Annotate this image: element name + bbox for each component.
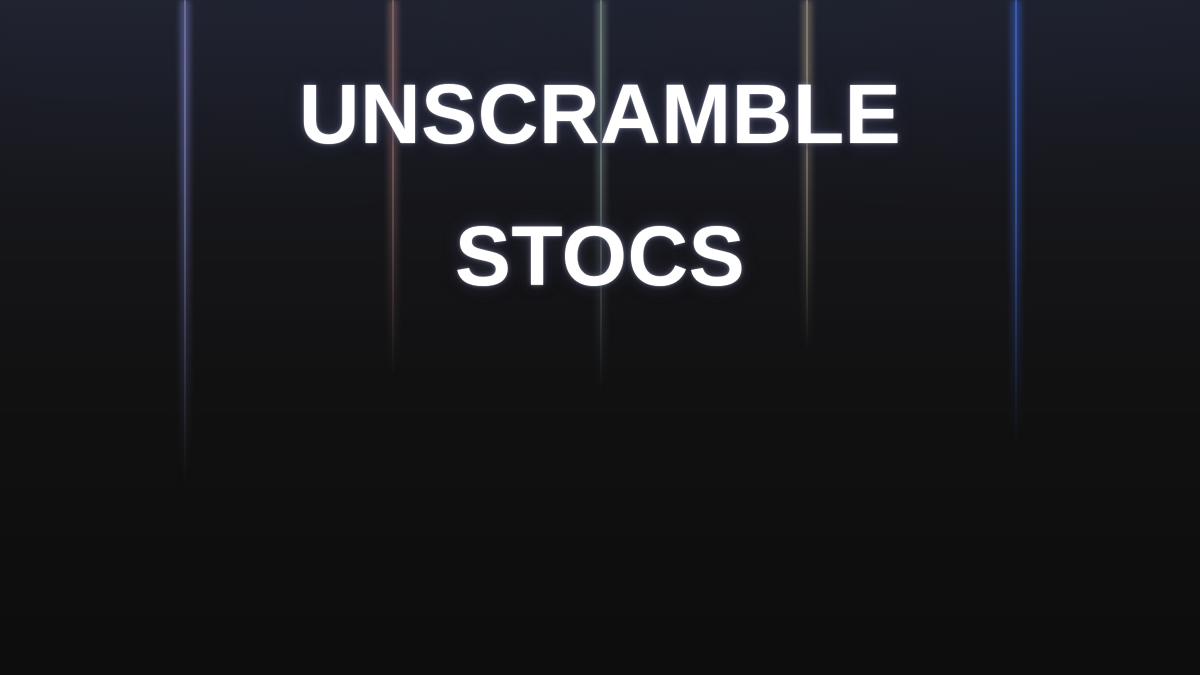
- headline-block: UNSCRAMBLE STOCS: [0, 72, 1200, 298]
- headline-word-2: STOCS: [0, 214, 1200, 298]
- headline-word-1: UNSCRAMBLE: [0, 72, 1200, 156]
- slide-canvas: UNSCRAMBLE STOCS: [0, 0, 1200, 675]
